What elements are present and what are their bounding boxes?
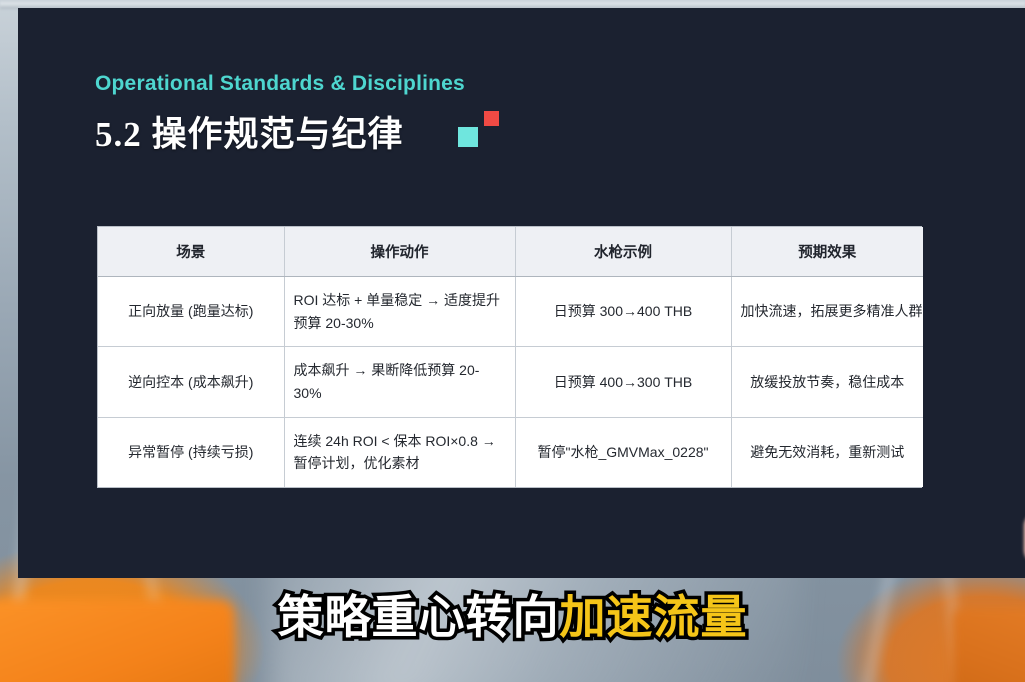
decorative-squares xyxy=(458,111,510,153)
column-header-scenario: 场景 xyxy=(98,227,284,277)
column-header-example: 水枪示例 xyxy=(515,227,731,277)
spec-table: 场景 操作动作 水枪示例 预期效果 正向放量 (跑量达标) ROI 达标 + 单… xyxy=(98,227,923,487)
slide-eyebrow: Operational Standards & Disciplines xyxy=(95,72,465,96)
cyan-square-icon xyxy=(458,127,478,147)
slide-panel: Operational Standards & Disciplines 5.2 … xyxy=(18,8,1025,578)
slide-title-row: 5.2 操作规范与纪律 xyxy=(95,106,510,157)
cell-effect: 加快流速，拓展更多精准人群 xyxy=(731,277,923,347)
cell-effect: 避免无效消耗，重新测试 xyxy=(731,417,923,487)
cell-scenario: 异常暂停 (持续亏损) xyxy=(98,417,284,487)
cell-action: 成本飙升 → 果断降低预算 20-30% xyxy=(284,347,515,417)
video-frame: Operational Standards & Disciplines 5.2 … xyxy=(0,0,1025,682)
cell-scenario: 逆向控本 (成本飙升) xyxy=(98,347,284,417)
caption-gold-text: 加速流量 xyxy=(560,591,748,643)
caption-white-text: 策略重心转向 xyxy=(278,591,560,643)
table-header-row: 场景 操作动作 水枪示例 预期效果 xyxy=(98,227,923,277)
red-square-icon xyxy=(484,111,499,126)
cell-action: ROI 达标 + 单量稳定 → 适度提升预算 20-30% xyxy=(284,277,515,347)
cell-example: 暂停"水枪_GMVMax_0228" xyxy=(515,417,731,487)
cell-scenario: 正向放量 (跑量达标) xyxy=(98,277,284,347)
table-row: 正向放量 (跑量达标) ROI 达标 + 单量稳定 → 适度提升预算 20-30… xyxy=(98,277,923,347)
table-row: 逆向控本 (成本飙升) 成本飙升 → 果断降低预算 20-30% 日预算 400… xyxy=(98,347,923,417)
spec-table-container: 场景 操作动作 水枪示例 预期效果 正向放量 (跑量达标) ROI 达标 + 单… xyxy=(97,226,922,488)
video-caption: 策略重心转向加速流量 xyxy=(0,594,1025,640)
cell-example: 日预算 300→400 THB xyxy=(515,277,731,347)
page-title: 5.2 操作规范与纪律 xyxy=(95,106,404,157)
cell-effect: 放缓投放节奏，稳住成本 xyxy=(731,347,923,417)
table-row: 异常暂停 (持续亏损) 连续 24h ROI < 保本 ROI×0.8 → 暂停… xyxy=(98,417,923,487)
cell-example: 日预算 400→300 THB xyxy=(515,347,731,417)
cell-action: 连续 24h ROI < 保本 ROI×0.8 → 暂停计划，优化素材 xyxy=(284,417,515,487)
column-header-action: 操作动作 xyxy=(284,227,515,277)
column-header-effect: 预期效果 xyxy=(731,227,923,277)
